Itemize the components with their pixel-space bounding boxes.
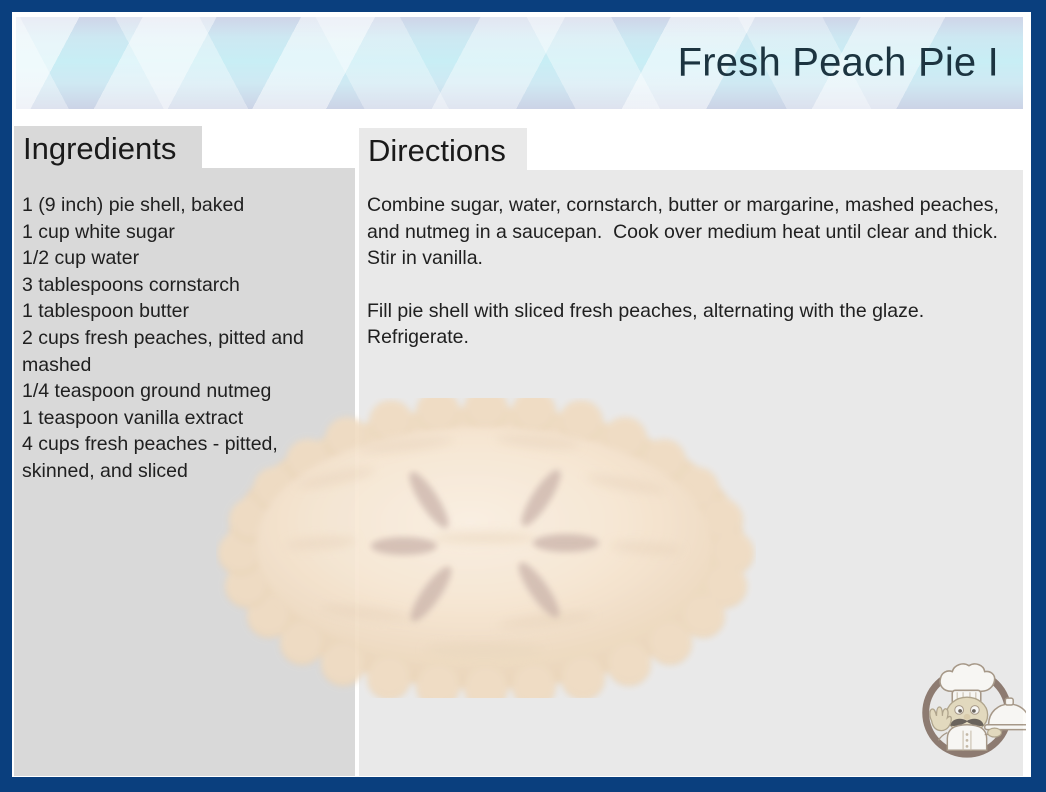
directions-paragraph: Fill pie shell with sliced fresh peaches… (367, 298, 1007, 351)
page-title: Fresh Peach Pie I (678, 41, 999, 86)
title-banner: Fresh Peach Pie I (16, 17, 1023, 109)
list-item: 1 (9 inch) pie shell, baked (22, 192, 347, 219)
list-item: 1 tablespoon butter (22, 298, 347, 325)
frame-border-right (1031, 0, 1046, 792)
directions-text: Combine sugar, water, cornstarch, butter… (367, 192, 1007, 351)
pie-image (216, 398, 756, 698)
frame-border-top (0, 0, 1046, 12)
ingredients-heading: Ingredients (23, 131, 176, 167)
list-item: 3 tablespoons cornstarch (22, 272, 347, 299)
list-item: 1/2 cup water (22, 245, 347, 272)
list-item: 2 cups fresh peaches, pitted and mashed (22, 325, 347, 378)
directions-heading: Directions (368, 133, 506, 169)
frame-border-left (0, 0, 12, 792)
list-item: 1 cup white sugar (22, 219, 347, 246)
chef-logo-icon (908, 648, 1026, 766)
frame-border-bottom (0, 777, 1046, 792)
directions-paragraph: Combine sugar, water, cornstarch, butter… (367, 192, 1007, 272)
recipe-slide: Fresh Peach Pie I Ingredients 1 (9 inch)… (0, 0, 1046, 792)
